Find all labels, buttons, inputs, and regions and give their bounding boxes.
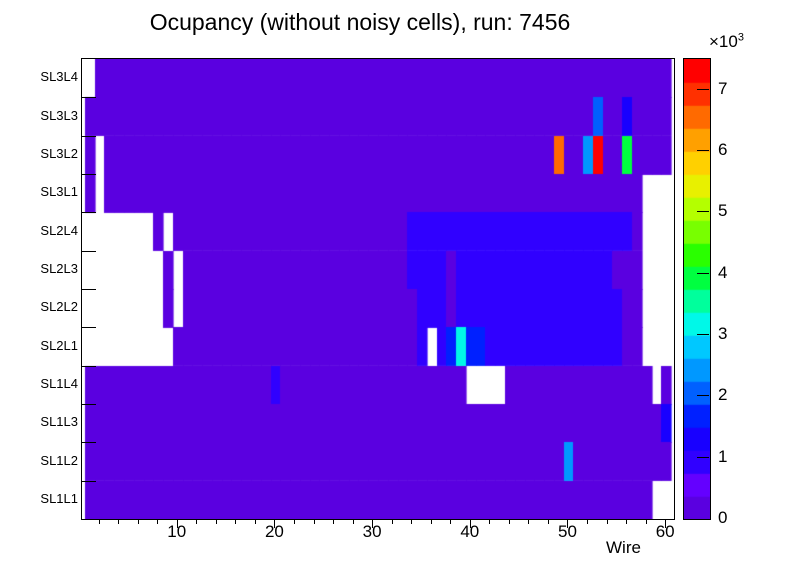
color-scale-tick-mark bbox=[697, 273, 709, 274]
heatmap-plot-frame[interactable] bbox=[81, 58, 675, 520]
x-tick-mark bbox=[314, 519, 315, 524]
color-scale-tick-mark bbox=[697, 457, 709, 458]
y-tick-label: SL1L1 bbox=[16, 492, 78, 506]
color-scale-tick-label: 3 bbox=[718, 324, 727, 344]
x-tick-mark bbox=[99, 519, 100, 524]
y-tick-label: SL3L4 bbox=[16, 70, 78, 84]
color-scale-tick-label: 6 bbox=[718, 140, 727, 160]
color-scale-tick-mark bbox=[697, 211, 709, 212]
x-tick-label: 30 bbox=[349, 522, 395, 542]
x-tick-label: 50 bbox=[544, 522, 590, 542]
color-scale-tick-mark bbox=[697, 395, 709, 396]
color-scale-tick-label: 1 bbox=[718, 447, 727, 467]
color-scale-axis: 01234567 bbox=[709, 58, 779, 518]
color-scale-tick-mark bbox=[697, 334, 709, 335]
y-tick-mark bbox=[82, 289, 96, 290]
y-tick-label: SL3L1 bbox=[16, 185, 78, 199]
color-scale-bar bbox=[683, 58, 709, 518]
x-tick-mark bbox=[626, 519, 627, 524]
x-axis: 102030405060 bbox=[81, 519, 681, 547]
color-scale-tick-label: 4 bbox=[718, 263, 727, 283]
y-tick-label: SL2L1 bbox=[16, 339, 78, 353]
heatmap-cells[interactable] bbox=[82, 59, 674, 519]
color-scale-tick-label: 2 bbox=[718, 385, 727, 405]
x-tick-mark bbox=[235, 519, 236, 524]
y-tick-label: SL3L3 bbox=[16, 109, 78, 123]
y-tick-mark bbox=[82, 404, 96, 405]
y-tick-mark bbox=[82, 442, 96, 443]
y-tick-label: SL1L2 bbox=[16, 454, 78, 468]
y-tick-label: SL1L3 bbox=[16, 415, 78, 429]
page-title: Ocupancy (without noisy cells), run: 745… bbox=[0, 8, 720, 36]
y-tick-label: SL3L2 bbox=[16, 147, 78, 161]
x-tick-label: 10 bbox=[154, 522, 200, 542]
color-scale-gradient bbox=[683, 58, 711, 520]
x-tick-mark bbox=[528, 519, 529, 524]
x-tick-mark bbox=[607, 519, 608, 524]
x-tick-mark bbox=[509, 519, 510, 524]
y-tick-label: SL2L2 bbox=[16, 300, 78, 314]
y-tick-mark bbox=[82, 366, 96, 367]
root-canvas: Ocupancy (without noisy cells), run: 745… bbox=[0, 0, 796, 572]
y-tick-mark bbox=[82, 327, 96, 328]
exponent-base: ×10 bbox=[709, 32, 738, 51]
y-tick-mark bbox=[82, 136, 96, 137]
y-axis: SL3L4SL3L3SL3L2SL3L1SL2L4SL2L3SL2L2SL2L1… bbox=[10, 58, 78, 518]
y-tick-label: SL1L4 bbox=[16, 377, 78, 391]
x-axis-title: Wire bbox=[606, 538, 641, 558]
y-tick-mark bbox=[82, 174, 96, 175]
color-scale-tick-label: 7 bbox=[718, 79, 727, 99]
color-scale-exponent: ×103 bbox=[709, 32, 744, 52]
exponent-power: 3 bbox=[738, 31, 744, 43]
x-tick-mark bbox=[431, 519, 432, 524]
y-tick-mark bbox=[82, 481, 96, 482]
y-tick-label: SL2L3 bbox=[16, 262, 78, 276]
x-tick-mark bbox=[118, 519, 119, 524]
x-tick-label: 60 bbox=[642, 522, 688, 542]
color-scale-tick-mark bbox=[697, 150, 709, 151]
x-tick-mark bbox=[216, 519, 217, 524]
x-tick-label: 40 bbox=[447, 522, 493, 542]
y-tick-mark bbox=[82, 251, 96, 252]
x-tick-label: 20 bbox=[251, 522, 297, 542]
x-tick-mark bbox=[333, 519, 334, 524]
color-scale-tick-label: 0 bbox=[718, 508, 727, 528]
color-scale-tick-label: 5 bbox=[718, 201, 727, 221]
x-tick-mark bbox=[138, 519, 139, 524]
y-tick-label: SL2L4 bbox=[16, 224, 78, 238]
y-tick-mark bbox=[82, 212, 96, 213]
x-tick-mark bbox=[411, 519, 412, 524]
y-tick-mark bbox=[82, 97, 96, 98]
color-scale-tick-mark bbox=[697, 89, 709, 90]
